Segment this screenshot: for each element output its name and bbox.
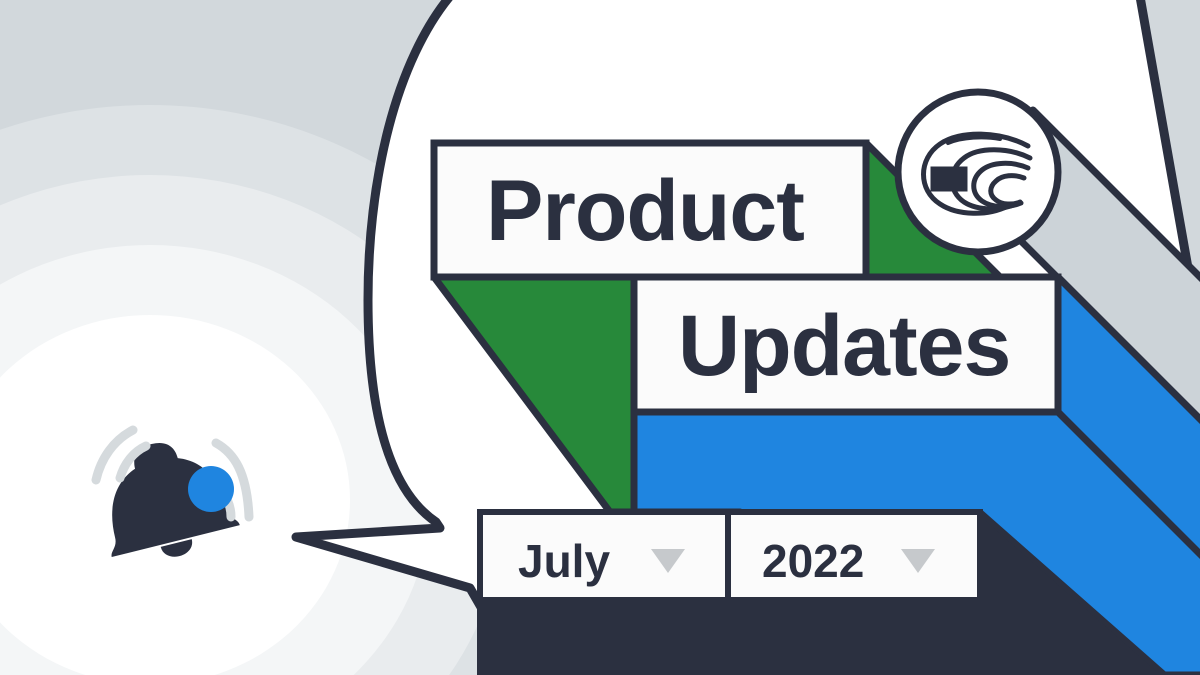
month-select[interactable]: July: [480, 512, 728, 600]
product-updates-banner: Product Updates July 2022: [0, 0, 1200, 675]
year-select[interactable]: 2022: [728, 512, 980, 600]
month-select-value: July: [518, 535, 610, 587]
brand-logo: [898, 92, 1058, 252]
updates-title-text: Updates: [678, 298, 1010, 394]
banner-artwork: Product Updates July 2022: [0, 0, 1200, 675]
selector-row-extrusion: [480, 600, 1060, 675]
notification-badge: [188, 466, 234, 512]
product-title-text: Product: [486, 163, 804, 259]
year-select-value: 2022: [762, 535, 864, 587]
